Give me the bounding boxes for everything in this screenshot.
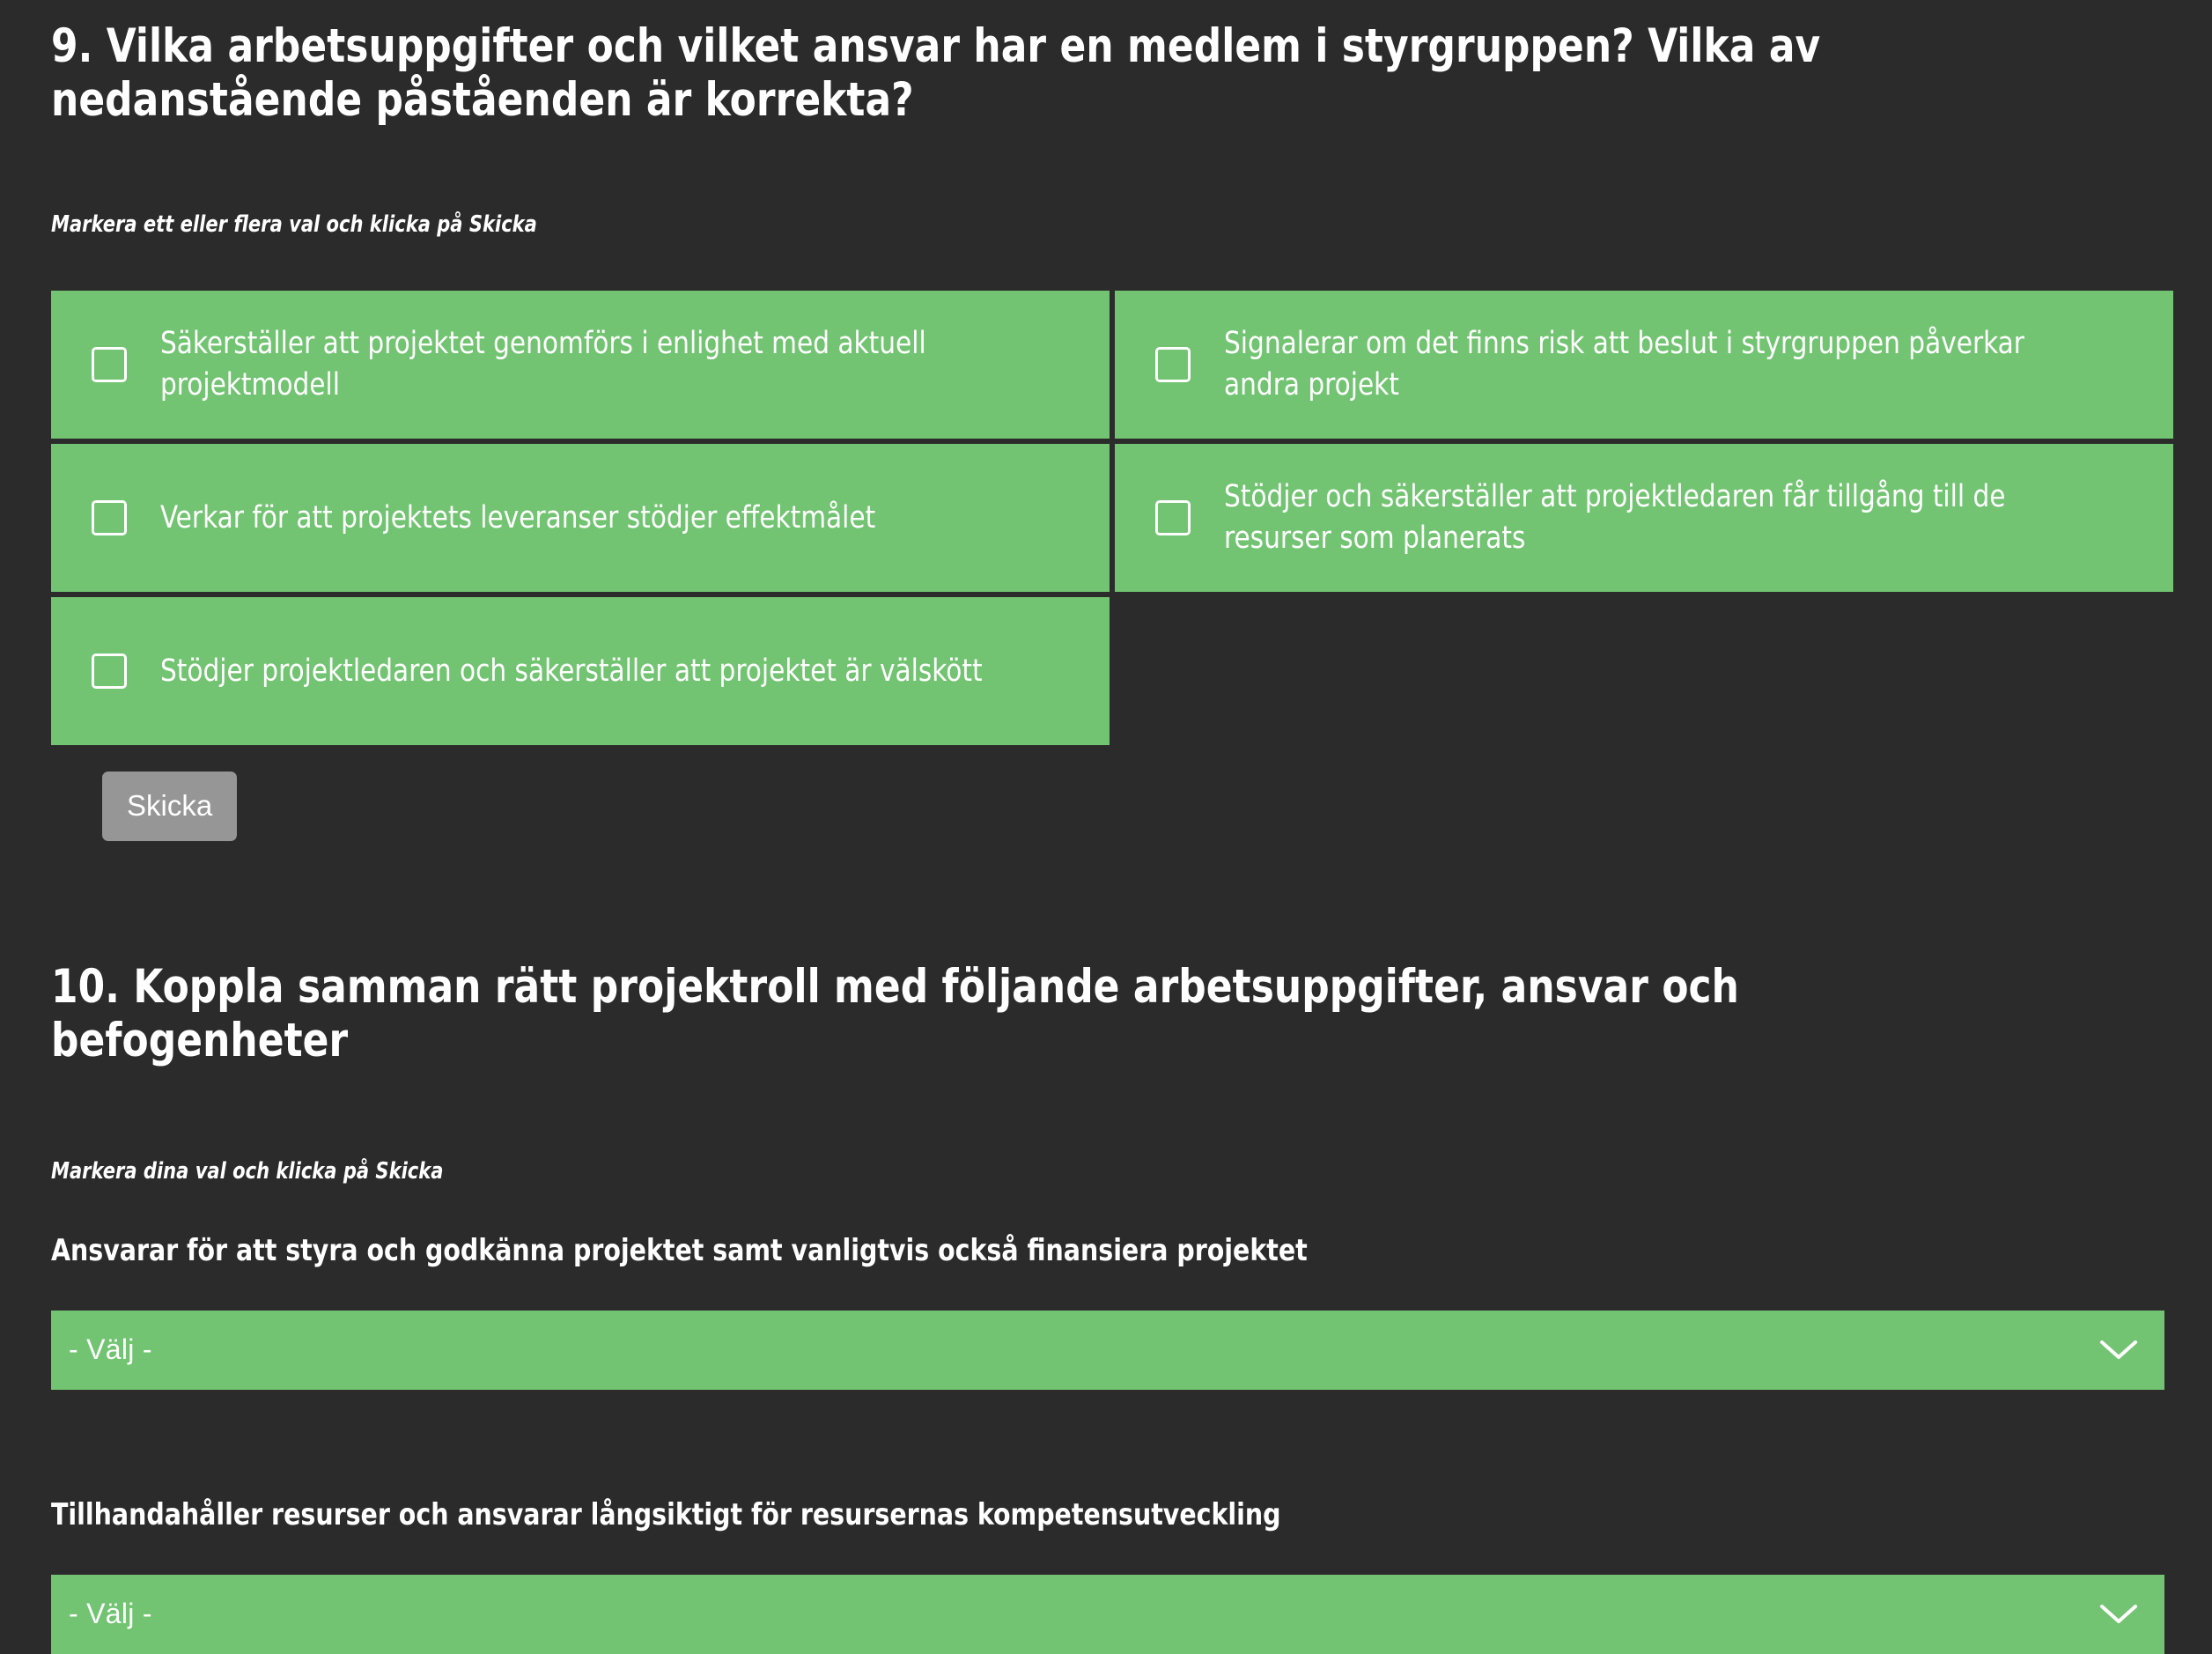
option-checkbox-row[interactable]: Säkerställer att projektet genomförs i e… [51, 291, 1110, 439]
chevron-down-icon [2099, 1339, 2138, 1362]
option-label: Stödjer och säkerställer att projektleda… [1224, 476, 2088, 558]
option-checkbox-row[interactable]: Signalerar om det finns risk att beslut … [1115, 291, 2173, 439]
option-checkbox-row[interactable]: Stödjer projektledaren och säkerställer … [51, 597, 1110, 745]
question-9-instruction: Markera ett eller flera val och klicka p… [51, 211, 2163, 239]
match-item: Tillhandahåller resurser och ansvarar lå… [51, 1497, 2164, 1654]
option-label: Säkerställer att projektet genomförs i e… [160, 323, 1024, 405]
checkbox-icon[interactable] [92, 347, 127, 382]
checkbox-icon[interactable] [92, 653, 127, 689]
question-9-options-grid: Säkerställer att projektet genomförs i e… [51, 291, 2164, 745]
question-10-title: 10. Koppla samman rätt projektroll med f… [51, 960, 1947, 1068]
option-label: Stödjer projektledaren och säkerställer … [160, 651, 1024, 692]
question-9-title: 9. Vilka arbetsuppgifter och vilket ansv… [51, 19, 2011, 128]
option-checkbox-row[interactable]: Stödjer och säkerställer att projektleda… [1115, 444, 2173, 592]
match-statement: Tillhandahåller resurser och ansvarar lå… [51, 1497, 2164, 1533]
option-label: Signalerar om det finns risk att beslut … [1224, 323, 2088, 405]
option-checkbox-row[interactable]: Verkar för att projektets leveranser stö… [51, 444, 1110, 592]
quiz-page: 9. Vilka arbetsuppgifter och vilket ansv… [0, 0, 2212, 1621]
option-grid-spacer [1115, 597, 2173, 745]
role-select-dropdown[interactable]: - Välj - [51, 1575, 2164, 1654]
option-label: Verkar för att projektets leveranser stö… [160, 498, 1024, 539]
role-select-dropdown[interactable]: - Välj - [51, 1311, 2164, 1390]
chevron-down-icon [2099, 1603, 2138, 1626]
submit-button-question-9[interactable]: Skicka [102, 772, 237, 841]
match-item: Ansvarar för att styra och godkänna proj… [51, 1233, 2164, 1390]
match-statement: Ansvarar för att styra och godkänna proj… [51, 1233, 2164, 1269]
checkbox-icon[interactable] [92, 500, 127, 535]
question-10-instruction: Markera dina val och klicka på Skicka [51, 1158, 2163, 1185]
role-select-value: - Välj - [69, 1333, 152, 1366]
checkbox-icon[interactable] [1155, 500, 1191, 535]
role-select-value: - Välj - [69, 1598, 152, 1630]
checkbox-icon[interactable] [1155, 347, 1191, 382]
